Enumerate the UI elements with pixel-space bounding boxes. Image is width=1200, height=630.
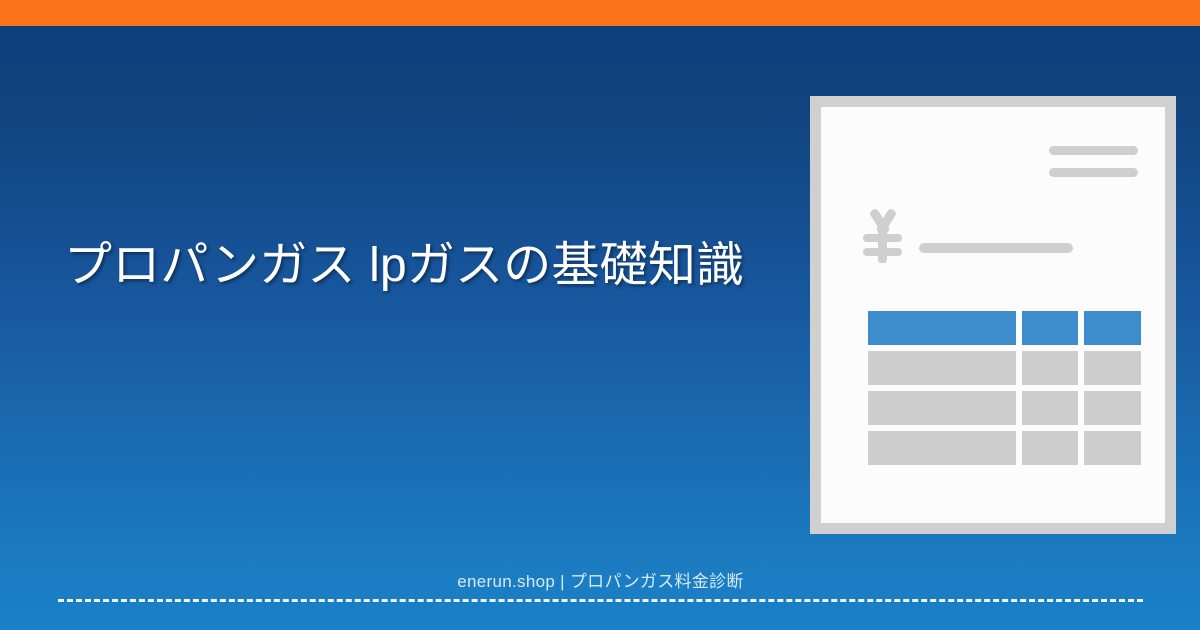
- table-cell: [1022, 351, 1078, 385]
- amount-placeholder-bar: [919, 243, 1073, 253]
- top-accent-bar: [0, 0, 1200, 26]
- table-header-cell: [1084, 311, 1141, 345]
- yen-amount-row: [861, 208, 1073, 264]
- document-page: [821, 107, 1165, 523]
- document-line-icon-2: [1049, 168, 1138, 177]
- table-cell: [868, 391, 1016, 425]
- document-header-lines: [1049, 146, 1138, 177]
- table-cell: [868, 351, 1016, 385]
- table-row: [868, 431, 1141, 465]
- table-row: [868, 391, 1141, 425]
- table-cell: [1022, 391, 1078, 425]
- page-title: プロパンガス lpガスの基礎知識: [64, 232, 764, 300]
- yen-icon: [861, 208, 905, 264]
- ogp-card: プロパンガス lpガスの基礎知識: [0, 0, 1200, 630]
- table-cell: [1084, 351, 1141, 385]
- table-cell: [1084, 431, 1141, 465]
- table-header-cell: [868, 311, 1016, 345]
- table-row: [868, 311, 1141, 345]
- gas-bill-document-card: [810, 96, 1176, 534]
- table-header-cell: [1022, 311, 1078, 345]
- document-line-icon-1: [1049, 146, 1138, 155]
- footer-divider: [58, 599, 1143, 602]
- table-cell: [1022, 431, 1078, 465]
- footer: enerun.shop | プロパンガス料金診断: [58, 571, 1143, 602]
- table-cell: [868, 431, 1016, 465]
- table-row: [868, 351, 1141, 385]
- table-cell: [1084, 391, 1141, 425]
- rate-table: [868, 311, 1141, 465]
- footer-attribution: enerun.shop | プロパンガス料金診断: [58, 571, 1143, 599]
